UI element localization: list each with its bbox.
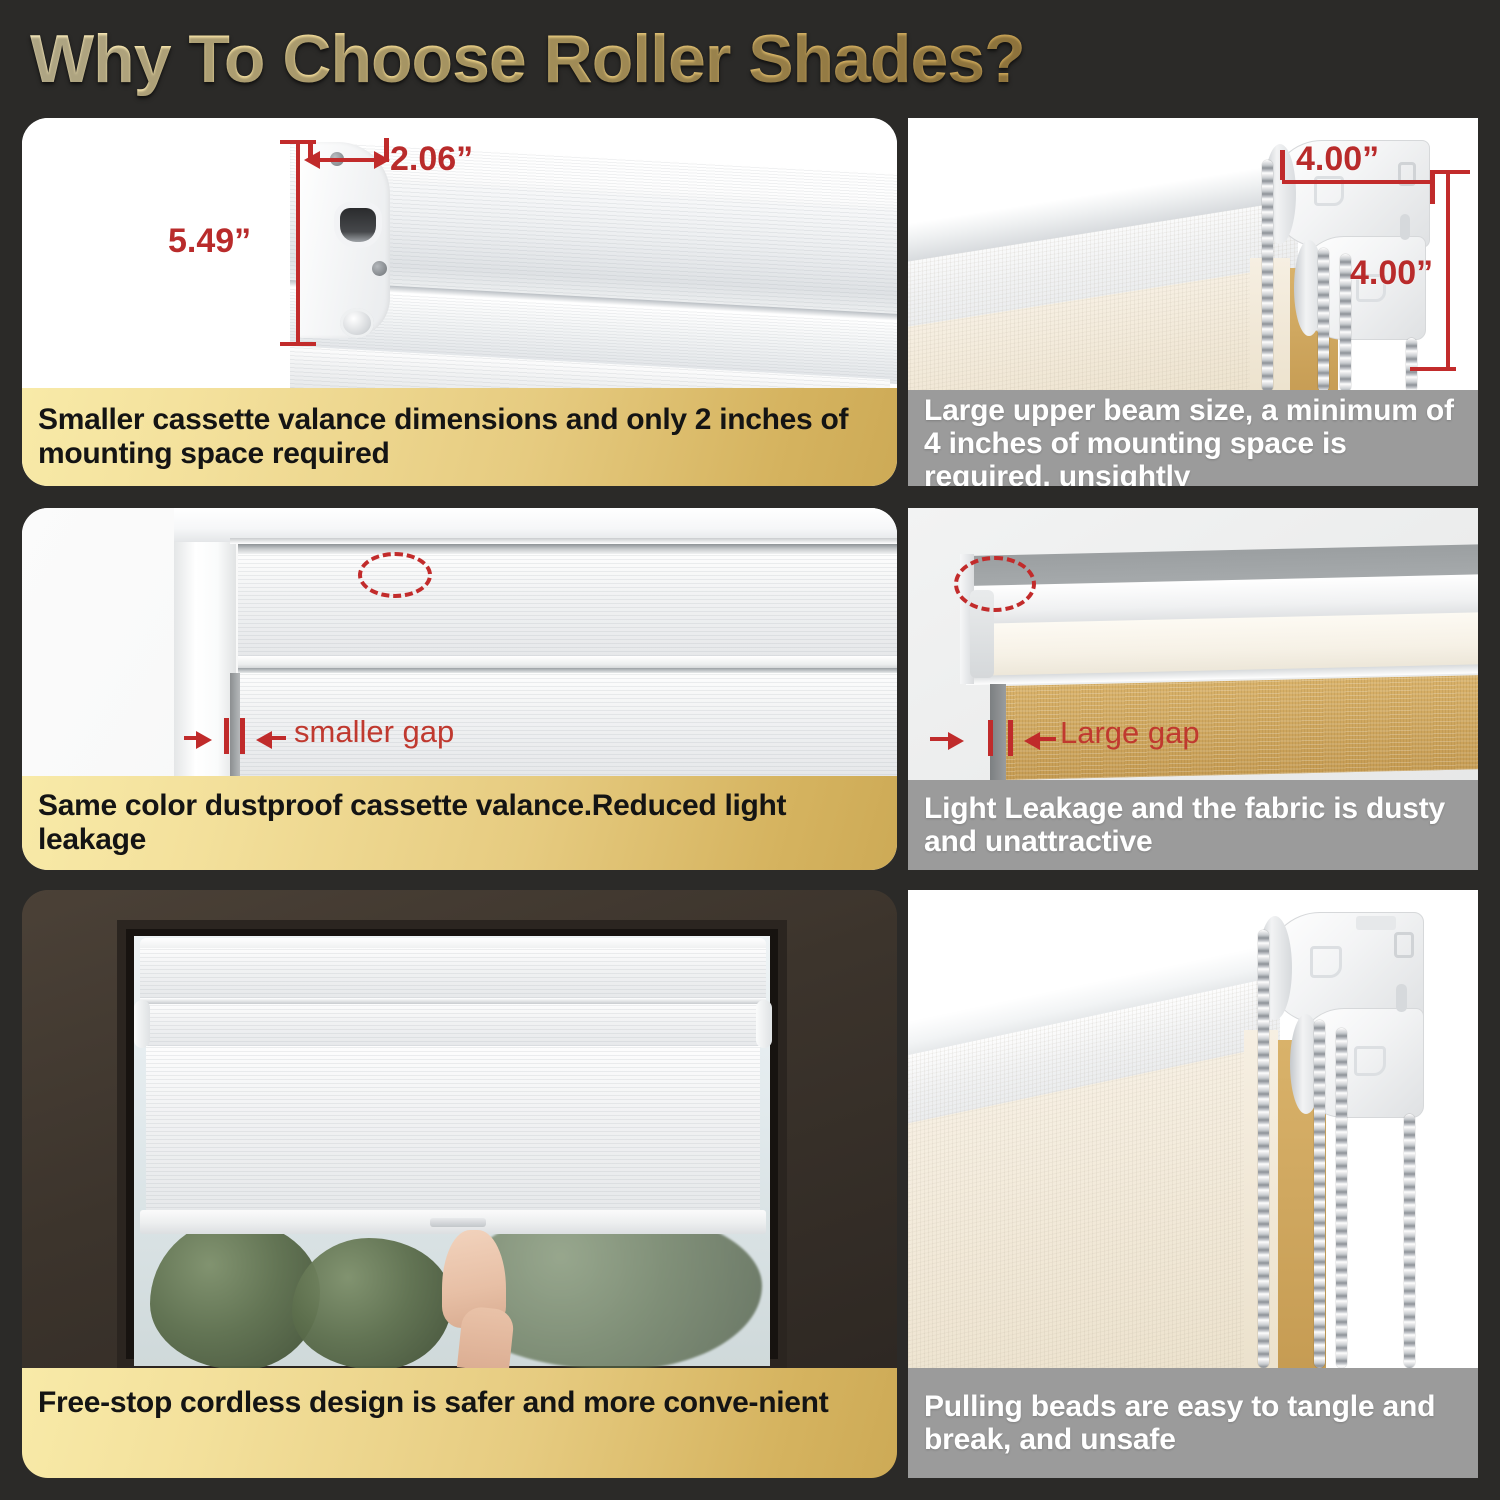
end-cap-clutch-slot <box>340 208 376 242</box>
beam-height-cap-bottom <box>1410 367 1456 371</box>
end-cap-bottom-screw <box>340 308 374 338</box>
height-dim-line <box>296 140 300 345</box>
bead-chain-1 <box>1258 930 1269 1368</box>
gap-arrow-left-stem <box>930 737 950 741</box>
tree-center <box>292 1238 452 1368</box>
valance-face-texture <box>140 948 766 1000</box>
roller-shade-fabric <box>146 1046 760 1214</box>
gap-arrow-left <box>196 731 212 749</box>
bracket-mount-tab <box>1356 916 1396 930</box>
dustproof-valance-photo: smaller gap <box>22 508 897 776</box>
width-dimension-label: 2.06” <box>390 140 473 179</box>
bead-chain-4 <box>1404 1114 1415 1368</box>
bead-chain-4 <box>1406 338 1417 390</box>
height-dimension-label: 5.49” <box>168 222 251 261</box>
beam-width-tick-right <box>1430 170 1435 204</box>
panel-light-leakage: Large gap Light Leakage and the fabric i… <box>908 508 1478 870</box>
gap-arrow-left <box>948 732 964 750</box>
valance-end-cap <box>298 142 390 338</box>
gap-arrow-right-stem <box>272 736 286 740</box>
gap-arrow-left-stem <box>184 736 198 740</box>
gap-arrow-right <box>1024 732 1040 750</box>
valance-head-rail <box>238 544 897 554</box>
caption-cassette-valance: Smaller cassette valance dimensions and … <box>22 388 897 486</box>
bead-chain-1 <box>1262 160 1273 390</box>
bracket-logo-lower <box>1354 1046 1386 1076</box>
panel-cordless-design: Free-stop cordless design is safer and m… <box>22 890 897 1478</box>
caption-text: Free-stop cordless design is safer and m… <box>38 1386 828 1420</box>
roller-shade-texture <box>146 1046 760 1214</box>
gap-tick-right <box>240 718 245 754</box>
large-gap-label: Large gap <box>1060 715 1200 751</box>
caption-text: Smaller cassette valance dimensions and … <box>38 403 881 471</box>
beam-width-dim-line <box>1282 180 1434 184</box>
valance-face <box>140 948 766 1000</box>
light-gap-strip <box>230 673 240 776</box>
panel-dustproof-valance: smaller gap Same color dustproof cassett… <box>22 508 897 870</box>
valance-end-cap-right <box>756 1000 772 1048</box>
bottom-rail-handle <box>430 1218 486 1227</box>
bracket-mount-slot-1 <box>1394 932 1414 958</box>
panel-cassette-valance: 2.06” 5.49” Smaller cassette valance dim… <box>22 118 897 486</box>
light-leakage-photo: Large gap <box>908 508 1478 780</box>
cordless-design-photo <box>22 890 897 1368</box>
gap-highlight-circle <box>954 556 1036 612</box>
beam-width-label: 4.00” <box>1296 140 1379 179</box>
caption-text: Light Leakage and the fabric is dusty an… <box>924 792 1462 858</box>
beam-height-dim-line <box>1446 170 1450 370</box>
valance-face-texture <box>238 554 897 658</box>
caption-upper-beam: Large upper beam size, a minimum of 4 in… <box>908 390 1478 486</box>
cassette-valance-photo: 2.06” 5.49” <box>22 118 897 388</box>
caption-light-leakage: Light Leakage and the fabric is dusty an… <box>908 780 1478 870</box>
bracket-mount-slot-2 <box>1396 984 1407 1012</box>
caption-cordless-design: Free-stop cordless design is safer and m… <box>22 1368 897 1478</box>
pulling-beads-photo <box>908 890 1478 1368</box>
height-dim-cap-top <box>280 140 316 144</box>
bead-chain-2 <box>1318 248 1329 390</box>
valance-lower-band <box>140 1004 766 1048</box>
end-cap-mid-screw <box>372 261 387 276</box>
caption-text: Same color dustproof cassette valance.Re… <box>38 789 881 857</box>
title-bar: Why To Choose Roller Shades? <box>0 0 1500 115</box>
bead-chain-2 <box>1314 1020 1325 1368</box>
gap-tick-left <box>988 720 993 756</box>
beam-height-cap-top <box>1430 170 1470 174</box>
width-dim-tick-right <box>384 138 389 162</box>
beam-width-tick-left <box>1280 150 1285 180</box>
panel-pulling-beads: Pulling beads are easy to tangle and bre… <box>908 890 1478 1478</box>
gap-arrow-right-stem <box>1040 737 1056 741</box>
window-casing-top <box>174 508 897 542</box>
bracket-mount-slot-2 <box>1400 214 1410 240</box>
forearm <box>457 1305 515 1368</box>
smaller-gap-label: smaller gap <box>294 714 454 750</box>
valance-lower-texture <box>140 1004 766 1048</box>
caption-pulling-beads: Pulling beads are easy to tangle and bre… <box>908 1368 1478 1478</box>
caption-text: Large upper beam size, a minimum of 4 in… <box>924 394 1462 486</box>
gap-tick-right <box>1008 720 1013 756</box>
valance-end-cap-left <box>134 1000 150 1048</box>
detail-highlight-circle <box>358 552 432 598</box>
bracket-logo-upper <box>1310 946 1342 978</box>
beam-height-label: 4.00” <box>1350 254 1433 293</box>
bead-chain-3 <box>1336 1028 1347 1368</box>
caption-text: Pulling beads are easy to tangle and bre… <box>924 1390 1462 1456</box>
gap-arrow-right <box>256 731 272 749</box>
valance-face-fabric <box>238 554 897 658</box>
caption-dustproof-valance: Same color dustproof cassette valance.Re… <box>22 776 897 870</box>
upper-beam-photo: 4.00” 4.00” <box>908 118 1478 390</box>
gap-tick-left <box>224 718 229 754</box>
page-title: Why To Choose Roller Shades? <box>30 20 1025 98</box>
panel-upper-beam: 4.00” 4.00” Large upper beam size, a min… <box>908 118 1478 486</box>
height-dim-cap-bottom <box>280 342 316 346</box>
